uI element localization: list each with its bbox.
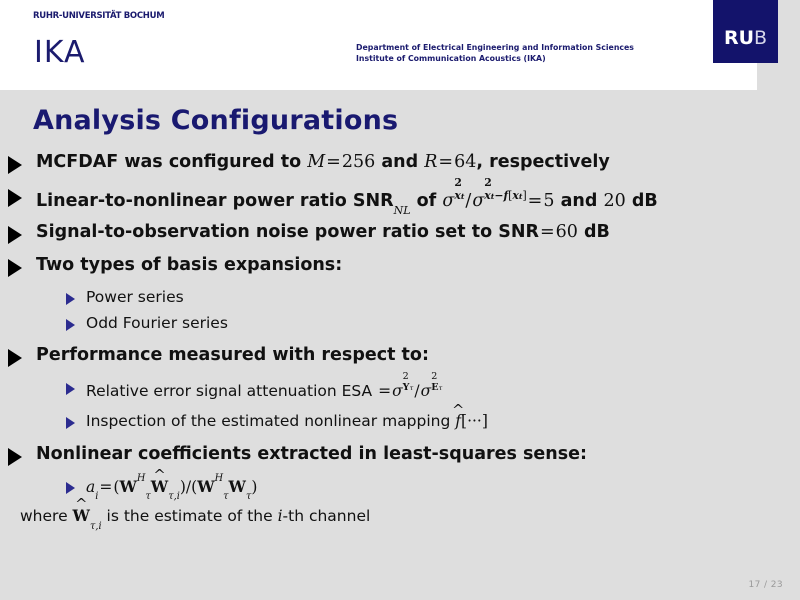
sub-E-tau: τ: [439, 384, 443, 392]
note-where: where: [20, 507, 73, 525]
and-text: and: [554, 191, 603, 211]
sub-bullet-text: Odd Fourier series: [86, 315, 228, 332]
sigma-y: σ: [392, 382, 403, 400]
department-text: Department of Electrical Engineering and…: [356, 42, 634, 65]
hat-accent: ^: [75, 498, 87, 513]
bullet-text: MCFDAF was configured to M=256 and R=64,…: [36, 153, 610, 172]
W1-superscript-H: H: [137, 473, 146, 484]
page-title: Analysis Configurations: [33, 105, 398, 136]
sigma-2-exponent: 2: [484, 177, 526, 188]
esa-pre: Relative error signal attenuation ESA: [86, 382, 377, 400]
sigma-e-indices: 2Eτ: [431, 381, 442, 401]
sub-bullet-text: Power series: [86, 289, 184, 306]
triangle-bullet-icon: [8, 259, 22, 277]
bullet-2-pre: Linear-to-nonlinear power ratio SNR: [36, 191, 394, 211]
bullet-1-pre: MCFDAF was configured to: [36, 152, 307, 172]
rub-logo-strong: RU: [724, 27, 754, 49]
bullet-text: Two types of basis expansions:: [36, 256, 342, 275]
slide-body: Analysis Configurations MCFDAF was confi…: [0, 90, 800, 600]
equals-3: =: [527, 191, 544, 211]
equals-1: =: [325, 152, 342, 172]
coef-a: a: [86, 478, 95, 496]
bullet-item-nonlinear-coefficients: Nonlinear coefficients extracted in leas…: [0, 445, 800, 466]
sub-x-t: t: [461, 192, 465, 201]
bullet-1-post: , respectively: [476, 152, 609, 172]
equals-coef: =: [98, 478, 113, 496]
equals-esa: =: [377, 382, 392, 400]
sigma-1: σ: [442, 191, 454, 211]
matrix-W-hat: ^W: [151, 478, 168, 495]
equals-4: =: [539, 222, 556, 242]
value-M: 256: [342, 152, 375, 172]
matrix-W-1: W: [119, 477, 136, 496]
sub-bullet-inspection: Inspection of the estimated nonlinear ma…: [0, 413, 800, 430]
W-note-subscript: τ,i: [90, 521, 102, 532]
sigma-e-exponent: 2: [431, 372, 442, 382]
bullet-item-mcfdaf: MCFDAF was configured to M=256 and R=64,…: [0, 153, 800, 174]
sub-bullet-coefficient-formula: ai=(WHτ^Wτ,i)/(WHτWτ): [0, 478, 800, 496]
triangle-sub-bullet-icon: [66, 417, 75, 429]
sigma-e: σ: [421, 382, 432, 400]
triangle-bullet-icon: [8, 189, 22, 207]
department-line-1: Department of Electrical Engineering and…: [356, 43, 634, 52]
sub-bullet-text: Inspection of the estimated nonlinear ma…: [86, 413, 488, 430]
note-mid: is the estimate of the: [102, 507, 278, 525]
triangle-sub-bullet-icon: [66, 319, 75, 331]
snr-value-1: 5: [543, 191, 554, 211]
sub-bullet-text: Relative error signal attenuation ESA =σ…: [86, 379, 442, 400]
sub-bracket-close: ]: [522, 189, 526, 202]
triangle-bullet-icon: [8, 226, 22, 244]
symbol-R: R: [424, 152, 437, 172]
sigma-1-subscript: xt: [454, 190, 464, 201]
department-line-2: Institute of Communication Acoustics (IK…: [356, 54, 546, 63]
bullet-3-pre: Signal-to-observation noise power ratio …: [36, 222, 539, 242]
sigma-e-subscript: Eτ: [431, 383, 442, 393]
sub-bullet-text: ai=(WHτ^Wτ,i)/(WHτWτ): [86, 478, 257, 496]
ika-logo: IKA: [34, 38, 86, 68]
note-post: -th channel: [283, 507, 371, 525]
inspection-pre: Inspection of the estimated nonlinear ma…: [86, 412, 455, 430]
symbol-M: M: [307, 152, 325, 172]
value-R: 64: [454, 152, 476, 172]
bullet-item-basis-expansions: Two types of basis expansions:: [0, 256, 800, 277]
triangle-sub-bullet-icon: [66, 482, 75, 494]
sub-E: E: [431, 382, 438, 393]
unit-db: dB: [578, 222, 610, 242]
unit-db: dB: [626, 191, 658, 211]
slide-header: RUHR-UNIVERSITÄT BOCHUM IKA Department o…: [0, 0, 757, 90]
bullet-list: MCFDAF was configured to M=256 and R=64,…: [0, 153, 800, 531]
sigma-1-indices: 2xt: [454, 188, 464, 210]
slash-esa: /: [413, 382, 420, 400]
sigma-y-subscript: Yτ: [403, 383, 414, 393]
sigma-y-exponent: 2: [403, 372, 414, 382]
sigma-y-indices: 2Yτ: [403, 381, 414, 401]
triangle-sub-bullet-icon: [66, 383, 75, 395]
brackets-dots: [···]: [461, 412, 488, 430]
triangle-bullet-icon: [8, 448, 22, 466]
bullet-item-snr: Signal-to-observation noise power ratio …: [0, 223, 800, 244]
hat-accent: ^: [153, 469, 165, 484]
bullet-item-performance: Performance measured with respect to:: [0, 346, 800, 367]
sub-bullet-odd-fourier-series: Odd Fourier series: [0, 315, 800, 332]
matrix-W-hat-note: ^W: [73, 507, 90, 524]
bullet-text: Performance measured with respect to:: [36, 346, 429, 365]
W2-subscript: τ,i: [168, 491, 180, 502]
bullet-item-snr-nl: Linear-to-nonlinear power ratio SNRNL of…: [0, 186, 800, 211]
coef-a-sub: i: [95, 491, 98, 502]
snr-subscript-nl: NL: [394, 204, 411, 217]
sigma-2-indices: 2xt−f[xt]: [484, 188, 526, 210]
rub-logo-text: RUB: [713, 29, 778, 48]
sub-Y: Y: [403, 382, 410, 393]
paren-close-2: ): [251, 478, 257, 496]
matrix-W-4: W: [229, 477, 246, 496]
sigma-2-subscript: xt−f[xt]: [484, 190, 526, 201]
triangle-bullet-icon: [8, 156, 22, 174]
triangle-bullet-icon: [8, 349, 22, 367]
bullet-1-mid: and: [375, 152, 424, 172]
snr-value-2: 20: [603, 191, 625, 211]
sub-Y-tau: τ: [410, 384, 414, 392]
page-number: 17 / 23: [749, 580, 783, 590]
university-name: RUHR-UNIVERSITÄT BOCHUM: [33, 11, 164, 21]
W4-subscript-tau: τ: [246, 491, 251, 502]
rub-logo: RUB: [713, 0, 778, 63]
W3-subscript-tau: τ: [223, 491, 228, 502]
bullet-text: Nonlinear coefficients extracted in leas…: [36, 445, 587, 464]
W3-superscript-H: H: [215, 473, 224, 484]
sigma-1-exponent: 2: [454, 177, 464, 188]
sigma-2: σ: [472, 191, 484, 211]
f-hat-symbol: ^f: [455, 413, 461, 430]
triangle-sub-bullet-icon: [66, 293, 75, 305]
equals-2: =: [437, 152, 454, 172]
sub-bullet-esa: Relative error signal attenuation ESA =σ…: [0, 379, 800, 400]
snr-value: 60: [556, 222, 578, 242]
bullet-text: Linear-to-nonlinear power ratio SNRNL of…: [36, 186, 658, 211]
matrix-W-3: W: [197, 477, 214, 496]
coefficient-note: where ^Wτ,i is the estimate of the i-th …: [0, 507, 800, 525]
bullet-text: Signal-to-observation noise power ratio …: [36, 223, 610, 242]
hat-accent: ^: [452, 404, 464, 419]
bullet-2-mid: of: [411, 191, 443, 211]
sub-bullet-power-series: Power series: [0, 289, 800, 306]
rub-logo-light: B: [754, 27, 767, 49]
